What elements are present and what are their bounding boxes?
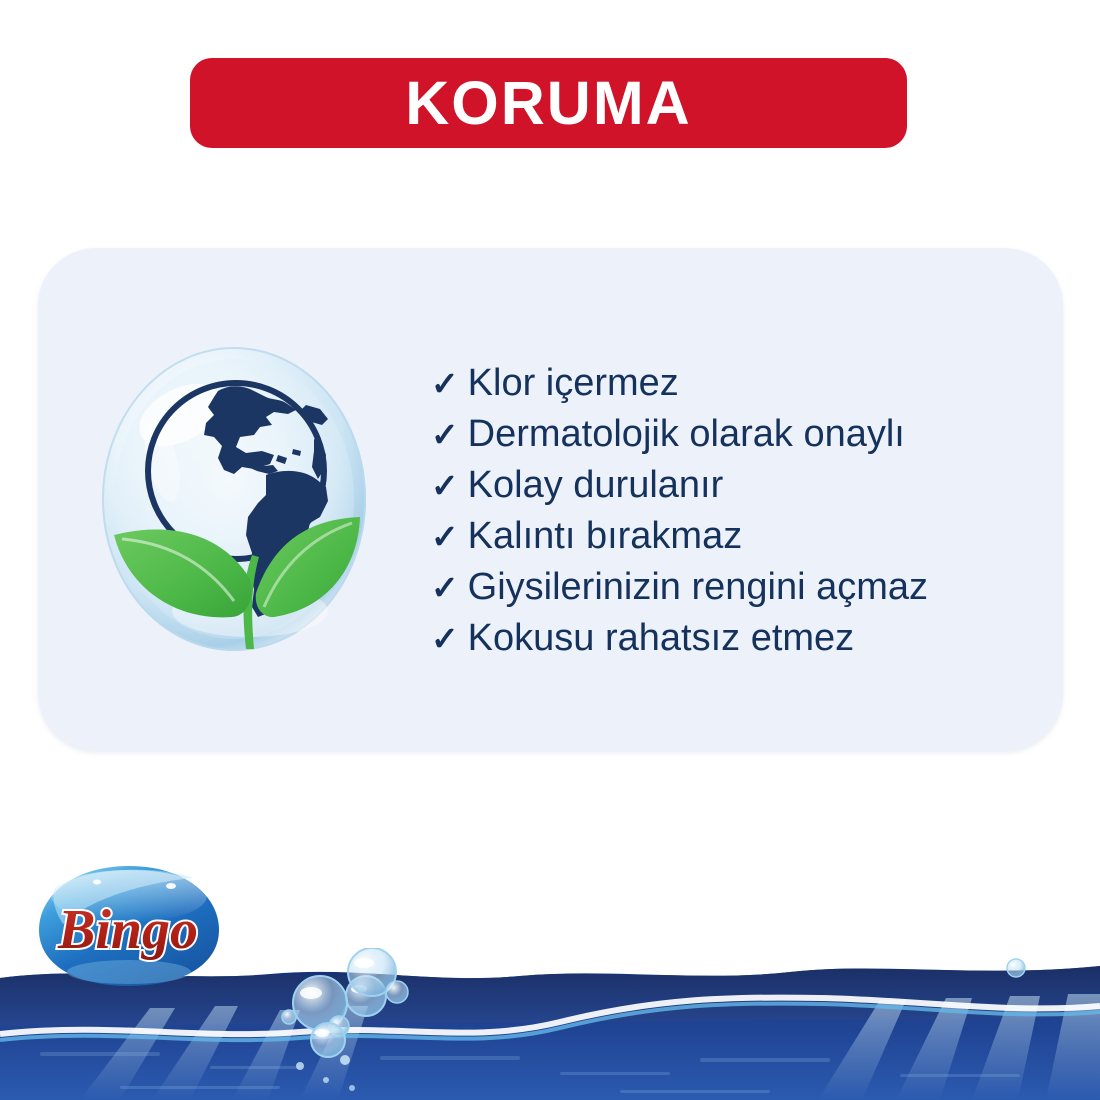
check-icon: ✓ [431,511,459,562]
check-icon: ✓ [431,613,459,664]
page-title: KORUMA [405,73,691,134]
eco-globe-bubble-icon [100,343,368,655]
benefit-item: ✓ Klor içermez [431,358,1051,409]
benefit-label: Kokusu rahatsız etmez [468,613,855,664]
feature-card: ✓ Klor içermez ✓ Dermatolojik olarak ona… [38,248,1063,751]
title-banner: KORUMA [190,58,907,148]
benefit-label: Kalıntı bırakmaz [468,511,743,562]
benefit-item: ✓ Kalıntı bırakmaz [431,511,1051,562]
benefit-item: ✓ Giysilerinizin rengini açmaz [431,562,1051,613]
benefit-item: ✓ Dermatolojik olarak onaylı [431,409,1051,460]
bingo-wordmark: Bingo [57,899,198,961]
check-icon: ✓ [431,358,459,409]
check-icon: ✓ [431,562,459,613]
bingo-logo: Bingo [33,862,223,990]
benefit-label: Klor içermez [468,358,679,409]
benefits-list: ✓ Klor içermez ✓ Dermatolojik olarak ona… [431,358,1051,664]
check-icon: ✓ [431,409,459,460]
benefit-label: Giysilerinizin rengini açmaz [468,562,928,613]
benefit-label: Dermatolojik olarak onaylı [468,409,905,460]
benefit-item: ✓ Kolay durulanır [431,460,1051,511]
check-icon: ✓ [431,460,459,511]
benefit-item: ✓ Kokusu rahatsız etmez [431,613,1051,664]
benefit-label: Kolay durulanır [468,460,724,511]
